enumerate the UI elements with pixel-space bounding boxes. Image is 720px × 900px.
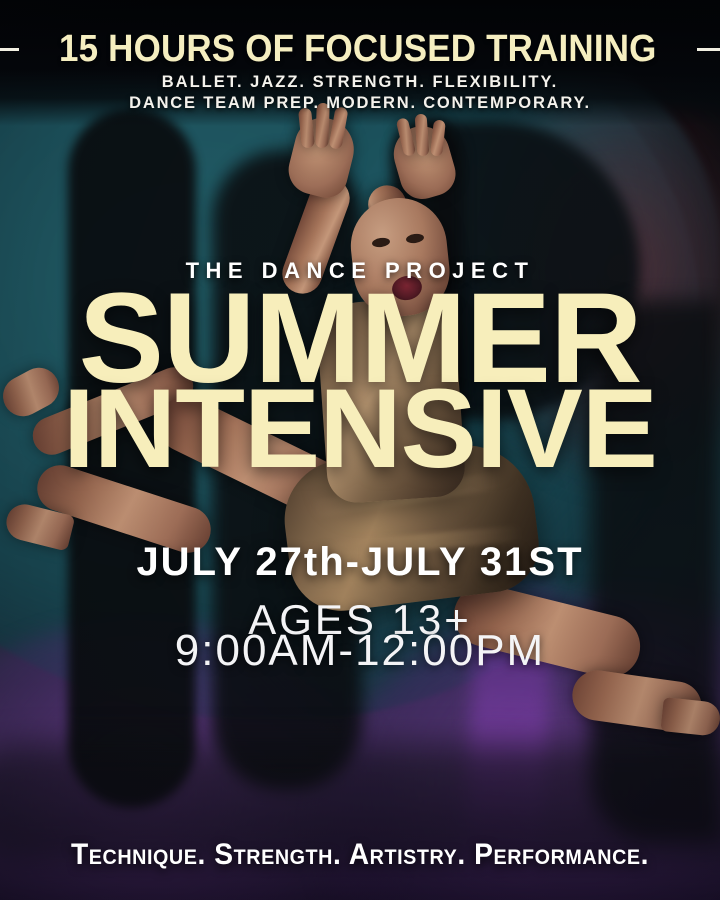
header-row: 15 HOURS OF FOCUSED TRAINING: [0, 30, 720, 68]
header-rule-left-icon: [0, 48, 19, 51]
disciplines-line-1: BALLET. JAZZ. STRENGTH. FLEXIBILITY.: [0, 72, 720, 93]
header-rule-right-icon: [697, 48, 720, 51]
footer-tagline: Technique. Strength. Artistry. Performan…: [22, 838, 699, 872]
main-title: SUMMER INTENSIVE: [0, 288, 720, 474]
headline-text: 15 HOURS OF FOCUSED TRAINING: [59, 30, 657, 68]
disciplines-list: BALLET. JAZZ. STRENGTH. FLEXIBILITY. DAN…: [0, 72, 720, 114]
event-times: 9:00AM-12:00PM: [0, 626, 720, 676]
disciplines-line-2: DANCE TEAM PREP. MODERN. CONTEMPORARY.: [0, 93, 720, 114]
flyer-text-content: 15 HOURS OF FOCUSED TRAINING BALLET. JAZ…: [0, 0, 720, 900]
summer-intensive-flyer: 15 HOURS OF FOCUSED TRAINING BALLET. JAZ…: [0, 0, 720, 900]
title-line-intensive: INTENSIVE: [0, 384, 720, 474]
event-dates: JULY 27th-JULY 31ST: [0, 540, 720, 585]
